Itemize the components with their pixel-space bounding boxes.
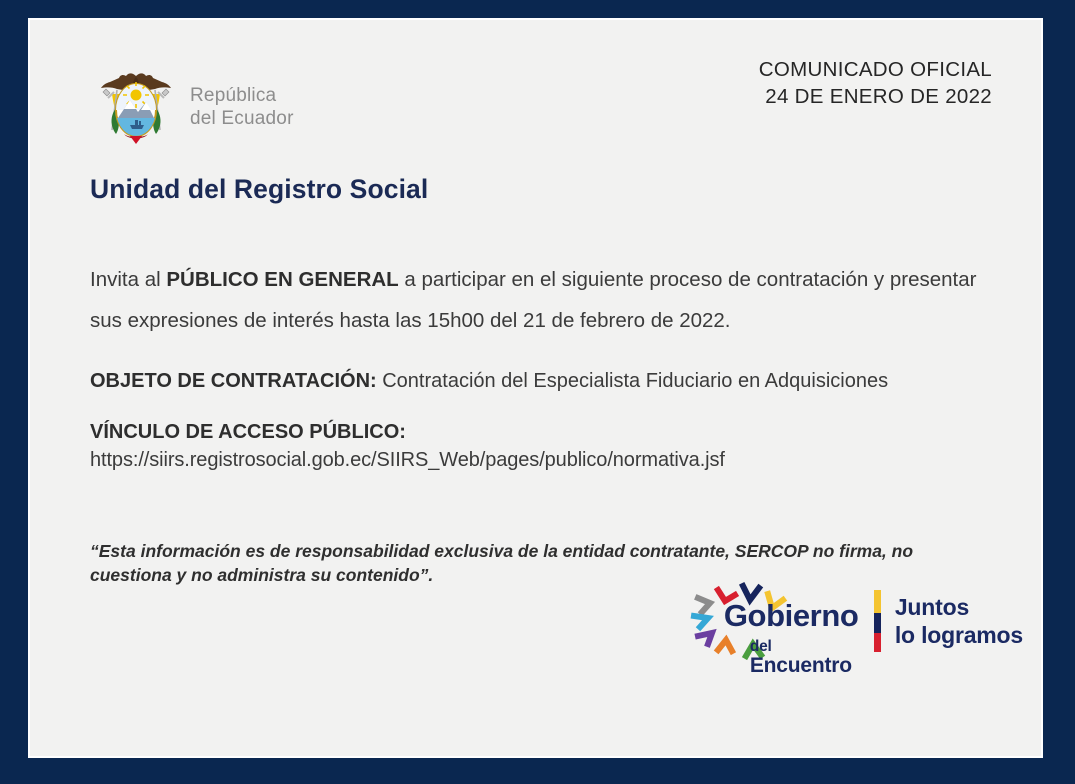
notice-label: COMUNICADO OFICIAL (759, 56, 992, 83)
official-notice-header: COMUNICADO OFICIAL 24 DE ENERO DE 2022 (759, 56, 992, 110)
contract-object-value: Contratación del Especialista Fiduciario… (377, 370, 888, 392)
comunicado-poster: COMUNICADO OFICIAL 24 DE ENERO DE 2022 (0, 0, 1075, 784)
poster-header: COMUNICADO OFICIAL 24 DE ENERO DE 2022 (90, 42, 995, 150)
tagline-line-1: Juntos (895, 593, 1023, 621)
flag-stripe-yellow (874, 590, 881, 613)
ecuador-flag-divider (874, 590, 881, 652)
notice-date: 24 DE ENERO DE 2022 (759, 83, 992, 110)
contract-object-section: OBJETO DE CONTRATACIÓN: Contratación del… (90, 367, 995, 396)
gobierno-burst-wordmark: Gobierno del Encuentro (688, 578, 856, 664)
poster-inner-frame: COMUNICADO OFICIAL 24 DE ENERO DE 2022 (28, 18, 1043, 758)
ecuador-coat-of-arms-icon (90, 68, 182, 150)
republic-line-2: del Ecuador (190, 108, 294, 131)
wordmark-encuentro: Encuentro (750, 654, 852, 677)
invite-prefix: Invita al (90, 268, 166, 291)
republic-label: República del Ecuador (190, 85, 294, 134)
wordmark-del: del (750, 638, 772, 655)
gov-tagline: Juntos lo logramos (895, 593, 1023, 649)
gobierno-wordmark: Gobierno del Encuentro (724, 600, 859, 676)
public-link-url[interactable]: https://siirs.registrosocial.gob.ec/SIIR… (90, 449, 725, 471)
invitation-paragraph: Invita al PÚBLICO EN GENERAL a participa… (90, 259, 995, 341)
public-link-label: VÍNCULO DE ACCESO PÚBLICO: (90, 418, 995, 446)
republic-emblem-block: República del Ecuador (90, 68, 294, 150)
organization-title: Unidad del Registro Social (90, 174, 995, 205)
contract-object-label: OBJETO DE CONTRATACIÓN: (90, 370, 377, 392)
poster-body: Invita al PÚBLICO EN GENERAL a participa… (90, 259, 995, 587)
government-logo: Gobierno del Encuentro Juntos lo logramo… (688, 578, 1023, 664)
public-link-section: VÍNCULO DE ACCESO PÚBLICO:https://siirs.… (90, 418, 995, 475)
invite-audience: PÚBLICO EN GENERAL (166, 268, 398, 291)
flag-stripe-blue (874, 613, 881, 633)
flag-stripe-red (874, 633, 881, 652)
tagline-line-2: lo logramos (895, 621, 1023, 649)
wordmark-gobierno: Gobierno (724, 600, 859, 631)
republic-line-1: República (190, 85, 294, 108)
wordmark-del-encuentro: del Encuentro (724, 634, 859, 676)
